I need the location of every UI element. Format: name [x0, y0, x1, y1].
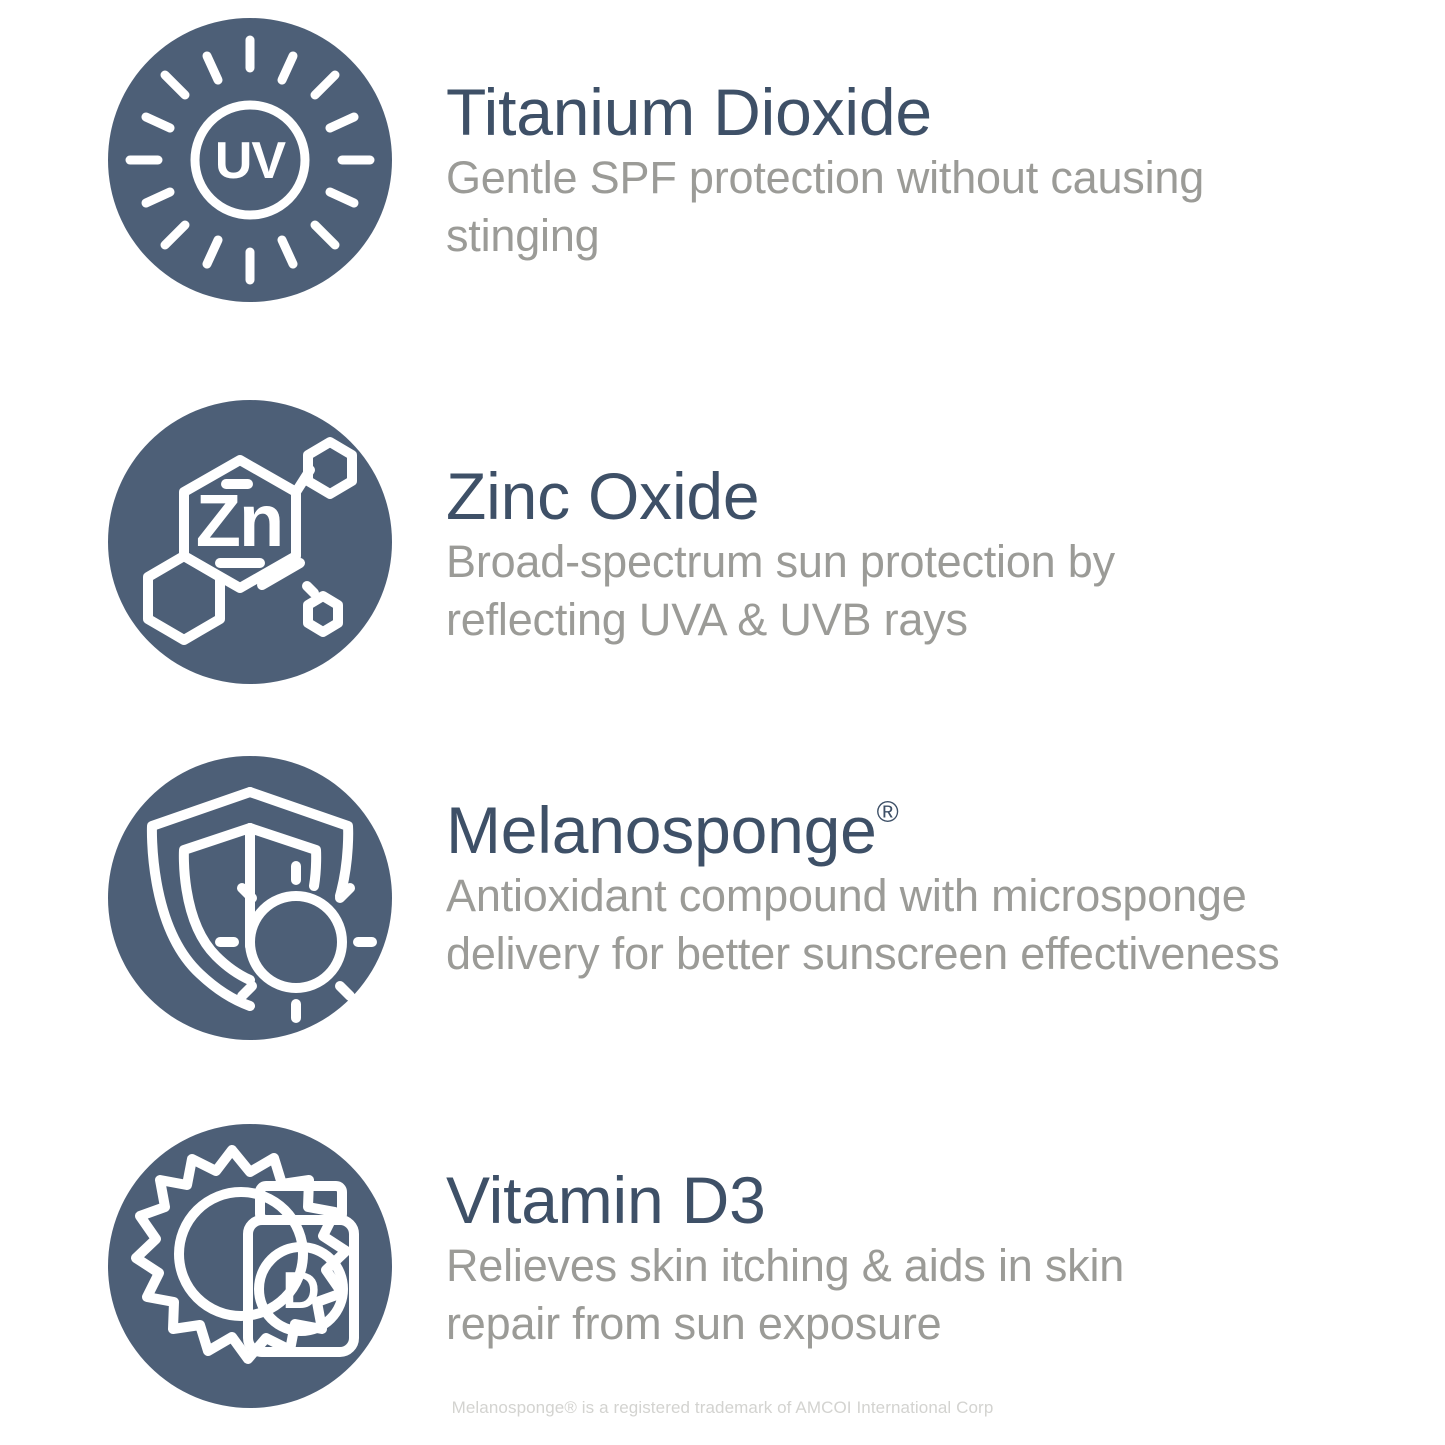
- feature-description: Broad-spectrum sun protection by reflect…: [446, 533, 1246, 650]
- zinc-molecule-icon: Zn: [108, 400, 392, 684]
- svg-text:UV: UV: [215, 132, 287, 190]
- svg-text:D: D: [282, 1262, 320, 1320]
- infographic-page: UV Titanium Dioxide Gentle SPF protectio…: [0, 0, 1445, 1445]
- feature-description: Antioxidant compound with microsponge de…: [446, 867, 1406, 984]
- feature-title: Vitamin D3: [446, 1166, 1206, 1235]
- svg-text:Zn: Zn: [196, 479, 282, 562]
- uv-sun-icon: UV: [108, 18, 392, 302]
- feature-text-titanium-dioxide: Titanium Dioxide Gentle SPF protection w…: [446, 78, 1326, 266]
- feature-title: Melanosponge®: [446, 796, 1406, 865]
- feature-description: Gentle SPF protection without causing st…: [446, 149, 1326, 266]
- sun-supplement-bottle-icon: D: [108, 1124, 392, 1408]
- feature-text-vitamin-d3: Vitamin D3 Relieves skin itching & aids …: [446, 1166, 1206, 1354]
- shield-sun-icon: [108, 756, 392, 1040]
- feature-title: Titanium Dioxide: [446, 78, 1326, 147]
- feature-description: Relieves skin itching & aids in skin rep…: [446, 1237, 1206, 1354]
- trademark-footnote: Melanosponge® is a registered trademark …: [0, 1398, 1445, 1418]
- registered-mark: ®: [877, 796, 899, 829]
- feature-text-melanosponge: Melanosponge® Antioxidant compound with …: [446, 796, 1406, 984]
- feature-text-zinc-oxide: Zinc Oxide Broad-spectrum sun protection…: [446, 462, 1246, 650]
- feature-title: Zinc Oxide: [446, 462, 1246, 531]
